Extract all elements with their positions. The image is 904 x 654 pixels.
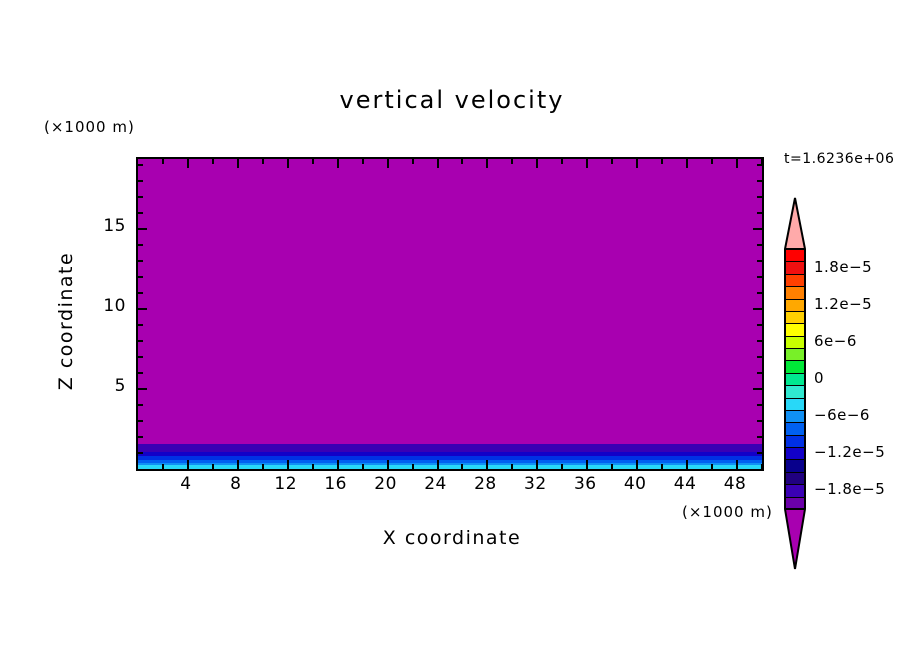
axis-tick <box>337 460 339 469</box>
colorbar-segment <box>786 435 804 448</box>
axis-tick <box>536 159 538 168</box>
colorbar-segment <box>786 249 804 262</box>
axis-tick <box>312 159 314 164</box>
axis-tick <box>387 159 389 168</box>
axis-tick <box>757 180 762 182</box>
axis-tick <box>187 460 189 469</box>
colorbar-tick-label: −1.8e−5 <box>814 480 885 498</box>
axis-tick <box>287 460 289 469</box>
axis-tick <box>636 460 638 469</box>
colorbar-segment <box>786 323 804 336</box>
axis-tick <box>412 159 414 164</box>
colorbar-scale <box>784 249 806 509</box>
axis-tick <box>337 159 339 168</box>
axis-tick <box>262 464 264 469</box>
colorbar-segment <box>786 484 804 497</box>
axis-tick <box>611 159 613 164</box>
axis-tick <box>611 464 613 469</box>
axis-tick <box>486 460 488 469</box>
axis-tick <box>138 436 143 438</box>
axis-tick <box>511 159 513 164</box>
axis-tick <box>761 464 763 469</box>
axis-tick <box>757 340 762 342</box>
colorbar-tick-label: −1.2e−5 <box>814 443 885 461</box>
axis-tick <box>486 159 488 168</box>
page-title: vertical velocity <box>0 86 904 114</box>
axis-tick <box>437 460 439 469</box>
axis-tick <box>753 388 762 390</box>
colorbar-segment <box>786 261 804 274</box>
axis-tick <box>757 276 762 278</box>
axis-tick <box>138 260 143 262</box>
axis-tick <box>711 159 713 164</box>
axis-tick <box>138 420 143 422</box>
y-tick-label: 15 <box>82 216 126 236</box>
y-tick-label: 5 <box>82 376 126 396</box>
x-tick-label: 36 <box>560 474 610 494</box>
y-tick-label: 10 <box>82 296 126 316</box>
axis-tick <box>461 464 463 469</box>
axis-tick <box>636 159 638 168</box>
axis-tick <box>757 436 762 438</box>
axis-tick <box>757 324 762 326</box>
x-tick-label: 48 <box>710 474 760 494</box>
axis-tick <box>757 260 762 262</box>
axis-tick <box>138 180 143 182</box>
axis-tick <box>138 228 147 230</box>
axis-tick <box>362 159 364 164</box>
colorbar-segment <box>786 274 804 287</box>
colorbar-segment <box>786 472 804 485</box>
axis-tick <box>757 420 762 422</box>
axis-tick <box>138 164 143 166</box>
colorbar-segment <box>786 336 804 349</box>
colorbar-segment <box>786 447 804 460</box>
colorbar-segment <box>786 299 804 312</box>
axis-tick <box>757 164 762 166</box>
colorbar-segment <box>786 286 804 299</box>
axis-tick <box>138 292 143 294</box>
timestamp-annotation: t=1.6236e+06 <box>784 151 894 167</box>
y-axis-title: Z coordinate <box>55 221 77 421</box>
colorbar-arrow-bottom-icon <box>784 508 806 570</box>
contour-band <box>138 159 762 444</box>
axis-tick <box>387 460 389 469</box>
x-tick-label: 4 <box>161 474 211 494</box>
x-tick-label: 8 <box>211 474 261 494</box>
colorbar-segment <box>786 348 804 361</box>
axis-tick <box>138 212 143 214</box>
axis-tick <box>138 196 143 198</box>
axis-tick <box>757 356 762 358</box>
contour-field <box>138 159 762 469</box>
colorbar-segment <box>786 373 804 386</box>
x-tick-label: 32 <box>510 474 560 494</box>
axis-tick <box>586 460 588 469</box>
axis-tick <box>711 464 713 469</box>
axis-tick <box>312 464 314 469</box>
axis-tick <box>138 372 143 374</box>
y-axis-unit-label: (×1000 m) <box>44 118 135 136</box>
axis-tick <box>757 244 762 246</box>
colorbar-tick-label: −6e−6 <box>814 406 870 424</box>
axis-tick <box>757 212 762 214</box>
axis-tick <box>686 460 688 469</box>
colorbar-segment <box>786 385 804 398</box>
x-axis-unit-label: (×1000 m) <box>682 503 773 521</box>
axis-tick <box>138 308 147 310</box>
axis-tick <box>586 159 588 168</box>
axis-tick <box>287 159 289 168</box>
colorbar-tick-label: 0 <box>814 369 824 387</box>
axis-tick <box>753 228 762 230</box>
axis-tick <box>362 464 364 469</box>
axis-tick <box>237 159 239 168</box>
x-tick-label: 28 <box>460 474 510 494</box>
colorbar-segment <box>786 311 804 324</box>
axis-tick <box>262 159 264 164</box>
axis-tick <box>536 460 538 469</box>
axis-tick <box>138 324 143 326</box>
axis-tick <box>511 464 513 469</box>
x-axis-title: X coordinate <box>252 527 652 549</box>
x-tick-label: 24 <box>411 474 461 494</box>
axis-tick <box>138 244 143 246</box>
x-tick-label: 40 <box>610 474 660 494</box>
colorbar-tick-label: 1.2e−5 <box>814 295 872 313</box>
axis-tick <box>757 404 762 406</box>
axis-tick <box>212 464 214 469</box>
axis-tick <box>661 159 663 164</box>
x-tick-label: 20 <box>361 474 411 494</box>
colorbar-segment <box>786 398 804 411</box>
axis-tick <box>138 276 143 278</box>
contour-band <box>138 444 762 452</box>
axis-tick <box>757 292 762 294</box>
axis-tick <box>757 452 762 454</box>
axis-tick <box>753 308 762 310</box>
contour-plot-area <box>136 157 764 471</box>
axis-tick <box>138 356 143 358</box>
axis-tick <box>412 464 414 469</box>
axis-tick <box>661 464 663 469</box>
axis-tick <box>736 460 738 469</box>
axis-tick <box>686 159 688 168</box>
colorbar-tick-label: 6e−6 <box>814 332 857 350</box>
axis-tick <box>437 159 439 168</box>
axis-tick <box>461 159 463 164</box>
axis-tick <box>187 159 189 168</box>
axis-tick <box>237 460 239 469</box>
axis-tick <box>138 404 143 406</box>
colorbar-segment <box>786 360 804 373</box>
colorbar-segment <box>786 422 804 435</box>
colorbar-tick-label: 1.8e−5 <box>814 258 872 276</box>
axis-tick <box>162 159 164 164</box>
x-tick-label: 44 <box>660 474 710 494</box>
axis-tick <box>212 159 214 164</box>
contour-band <box>138 465 762 469</box>
axis-tick <box>757 372 762 374</box>
x-tick-label: 12 <box>261 474 311 494</box>
axis-tick <box>757 196 762 198</box>
colorbar-segment <box>786 410 804 423</box>
axis-tick <box>736 159 738 168</box>
colorbar-arrow-top-icon <box>784 197 806 250</box>
axis-tick <box>162 464 164 469</box>
x-tick-label: 16 <box>311 474 361 494</box>
colorbar-segment <box>786 459 804 472</box>
axis-tick <box>138 340 143 342</box>
axis-tick <box>138 452 143 454</box>
axis-tick <box>561 159 563 164</box>
axis-tick <box>561 464 563 469</box>
axis-tick <box>138 388 147 390</box>
axis-tick <box>761 159 763 164</box>
